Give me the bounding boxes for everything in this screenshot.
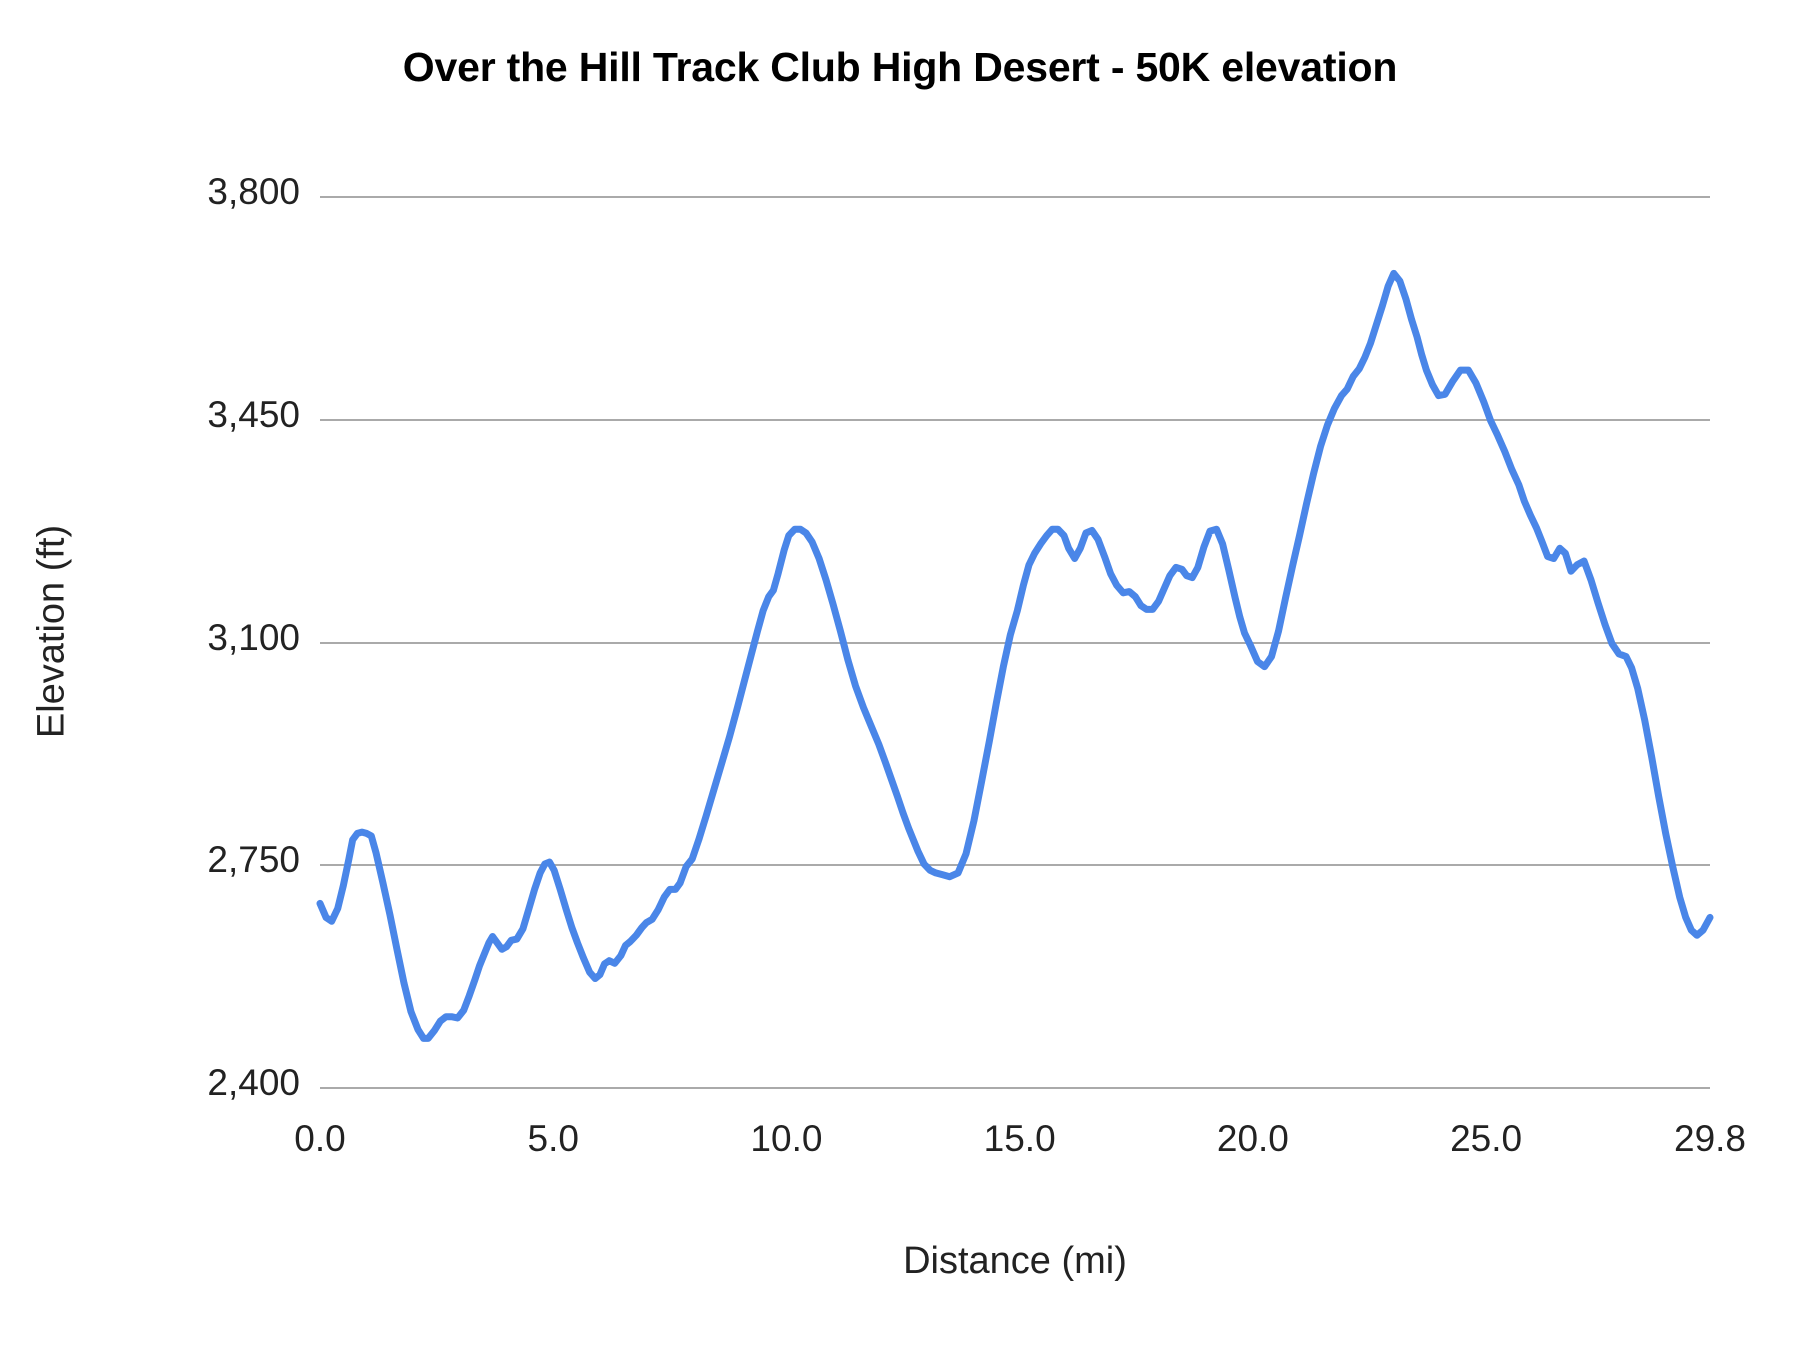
x-tick-label: 20.0 xyxy=(1217,1118,1289,1160)
x-axis-title: Distance (mi) xyxy=(320,1240,1710,1283)
elevation-series-svg xyxy=(320,197,1710,1088)
y-tick-label: 2,400 xyxy=(80,1062,300,1104)
x-tick-label: 29.8 xyxy=(1674,1118,1746,1160)
x-tick-label: 0.0 xyxy=(294,1118,345,1160)
x-tick-label: 10.0 xyxy=(750,1118,822,1160)
y-tick-label: 3,450 xyxy=(80,394,300,436)
x-tick-label: 25.0 xyxy=(1450,1118,1522,1160)
elevation-line xyxy=(320,273,1710,1038)
chart-container: Over the Hill Track Club High Desert - 5… xyxy=(0,0,1800,1350)
y-tick-label: 3,100 xyxy=(80,617,300,659)
y-tick-label: 3,800 xyxy=(80,171,300,213)
x-tick-label: 5.0 xyxy=(528,1118,579,1160)
plot-area xyxy=(320,197,1710,1088)
x-tick-label: 15.0 xyxy=(984,1118,1056,1160)
y-tick-label: 2,750 xyxy=(80,839,300,881)
x-axis-tick-labels: 0.05.010.015.020.025.029.8 xyxy=(0,1118,1800,1178)
